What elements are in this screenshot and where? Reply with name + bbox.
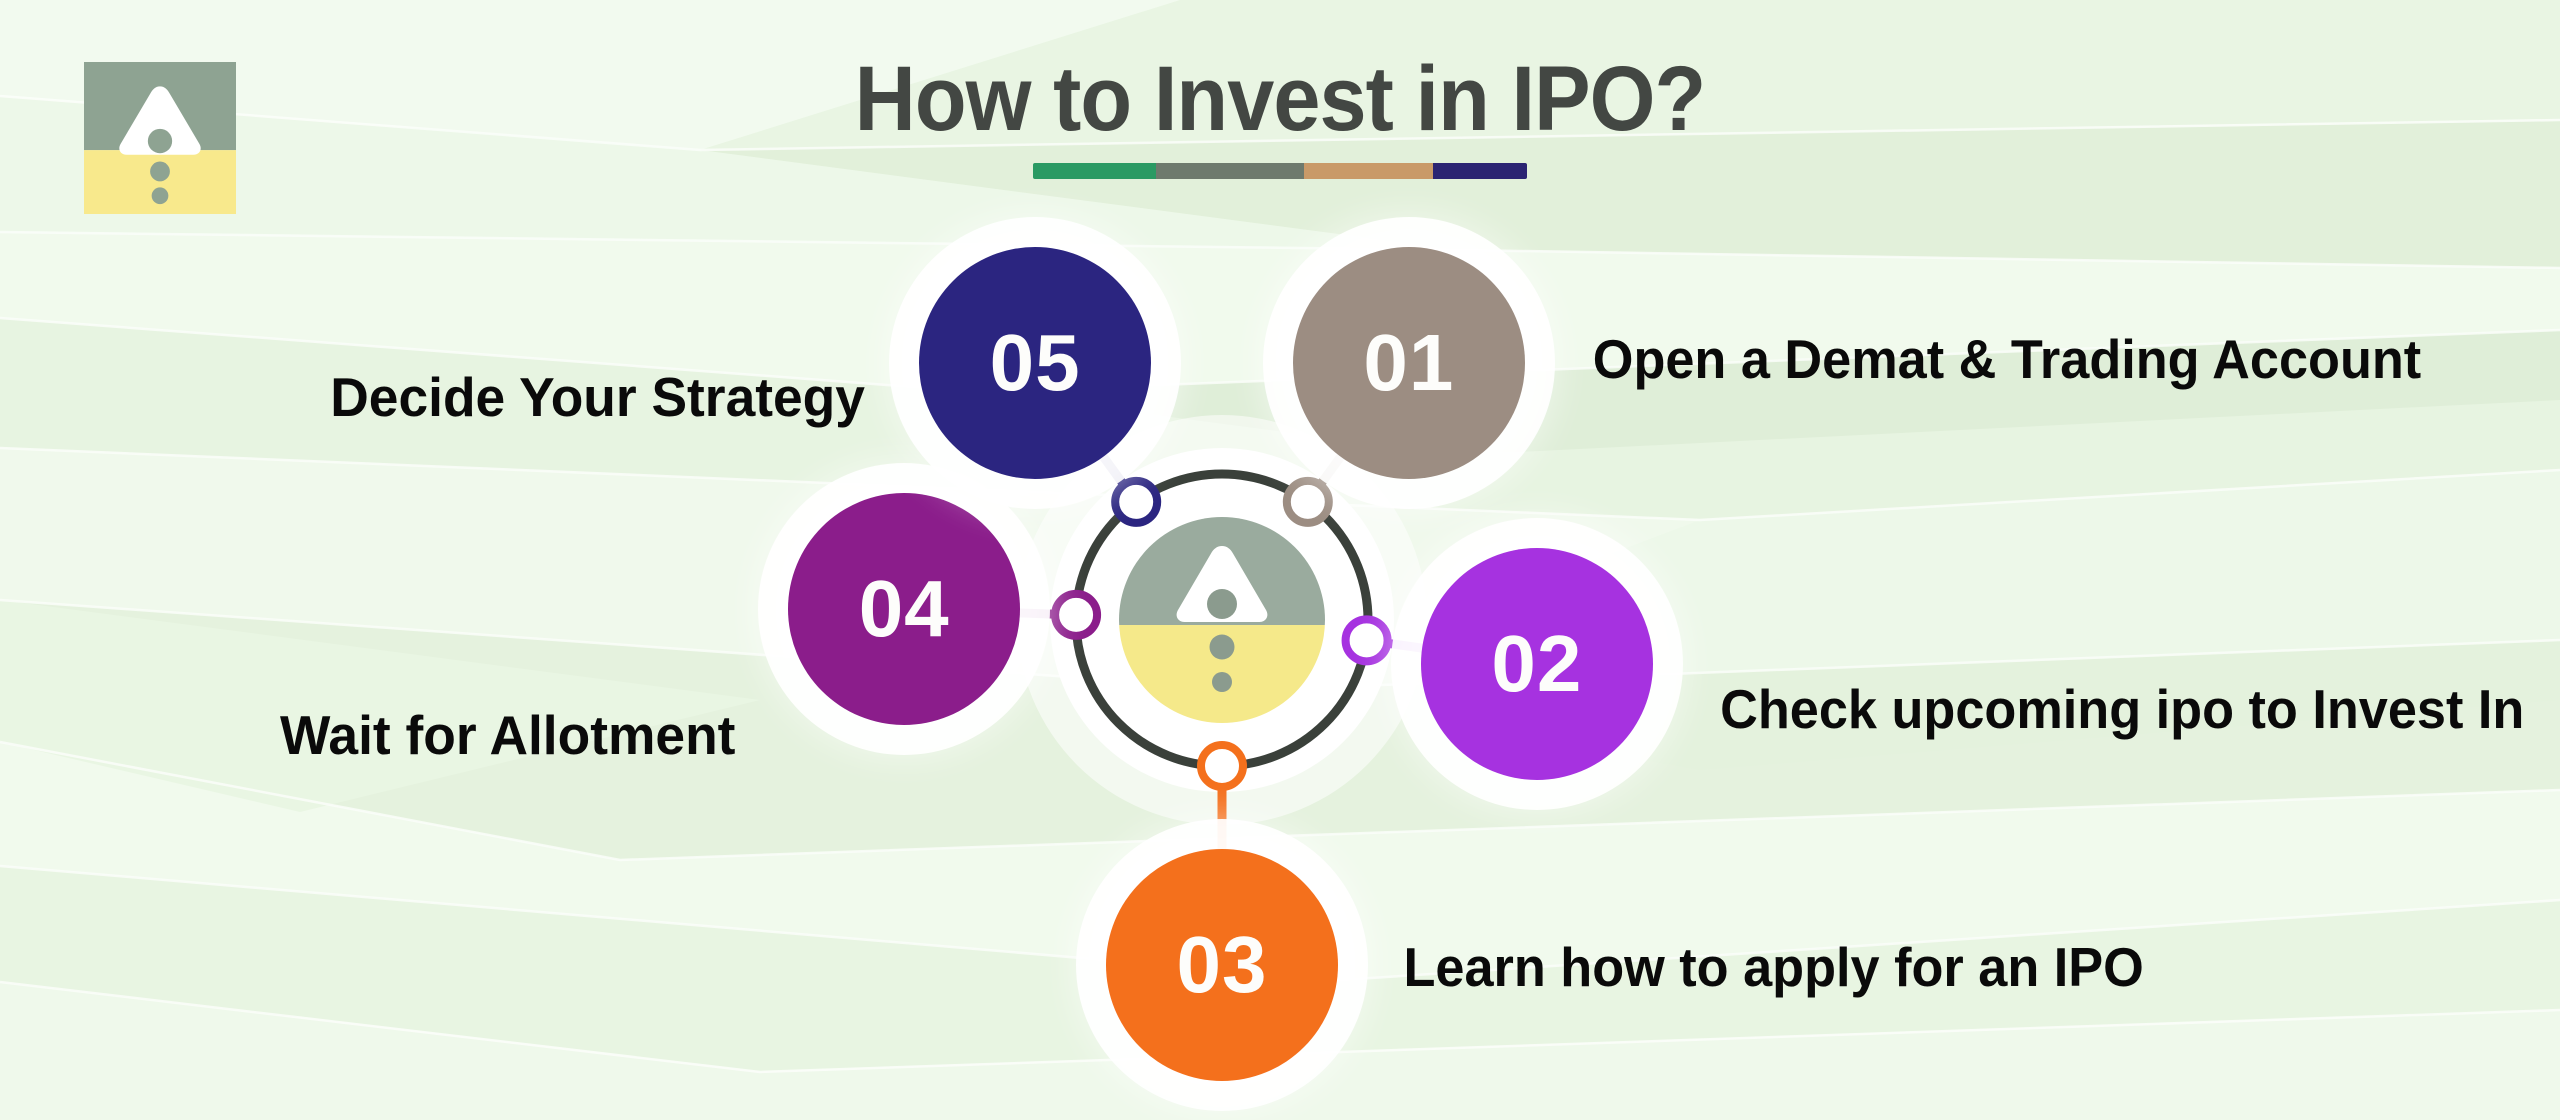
orbit-node-01[interactable]	[1287, 481, 1329, 523]
step-caption-05: Decide Your Strategy	[330, 370, 865, 425]
step-bubble-05[interactable]: 05	[919, 247, 1151, 479]
step-bubble-01[interactable]: 01	[1293, 247, 1525, 479]
orbit-node-03[interactable]	[1201, 745, 1243, 787]
orbit-node-04[interactable]	[1055, 594, 1097, 636]
step-caption-02: Check upcoming ipo to Invest In	[1720, 682, 2524, 737]
orbit-node-05[interactable]	[1115, 481, 1157, 523]
step-number-01: 01	[1363, 317, 1454, 409]
step-bubble-03[interactable]: 03	[1106, 849, 1338, 1081]
step-caption-04: Wait for Allotment	[280, 708, 735, 763]
step-bubble-02[interactable]: 02	[1421, 548, 1653, 780]
step-number-05: 05	[990, 317, 1081, 409]
step-number-04: 04	[859, 563, 950, 655]
orbit-node-02[interactable]	[1346, 619, 1388, 661]
step-number-03: 03	[1177, 919, 1268, 1011]
step-bubble-04[interactable]: 04	[788, 493, 1020, 725]
step-caption-01: Open a Demat & Trading Account	[1593, 332, 2421, 387]
step-number-02: 02	[1491, 618, 1582, 710]
step-caption-03: Learn how to apply for an IPO	[1403, 940, 2143, 995]
infographic-canvas: How to Invest in IPO?	[0, 0, 2560, 1120]
